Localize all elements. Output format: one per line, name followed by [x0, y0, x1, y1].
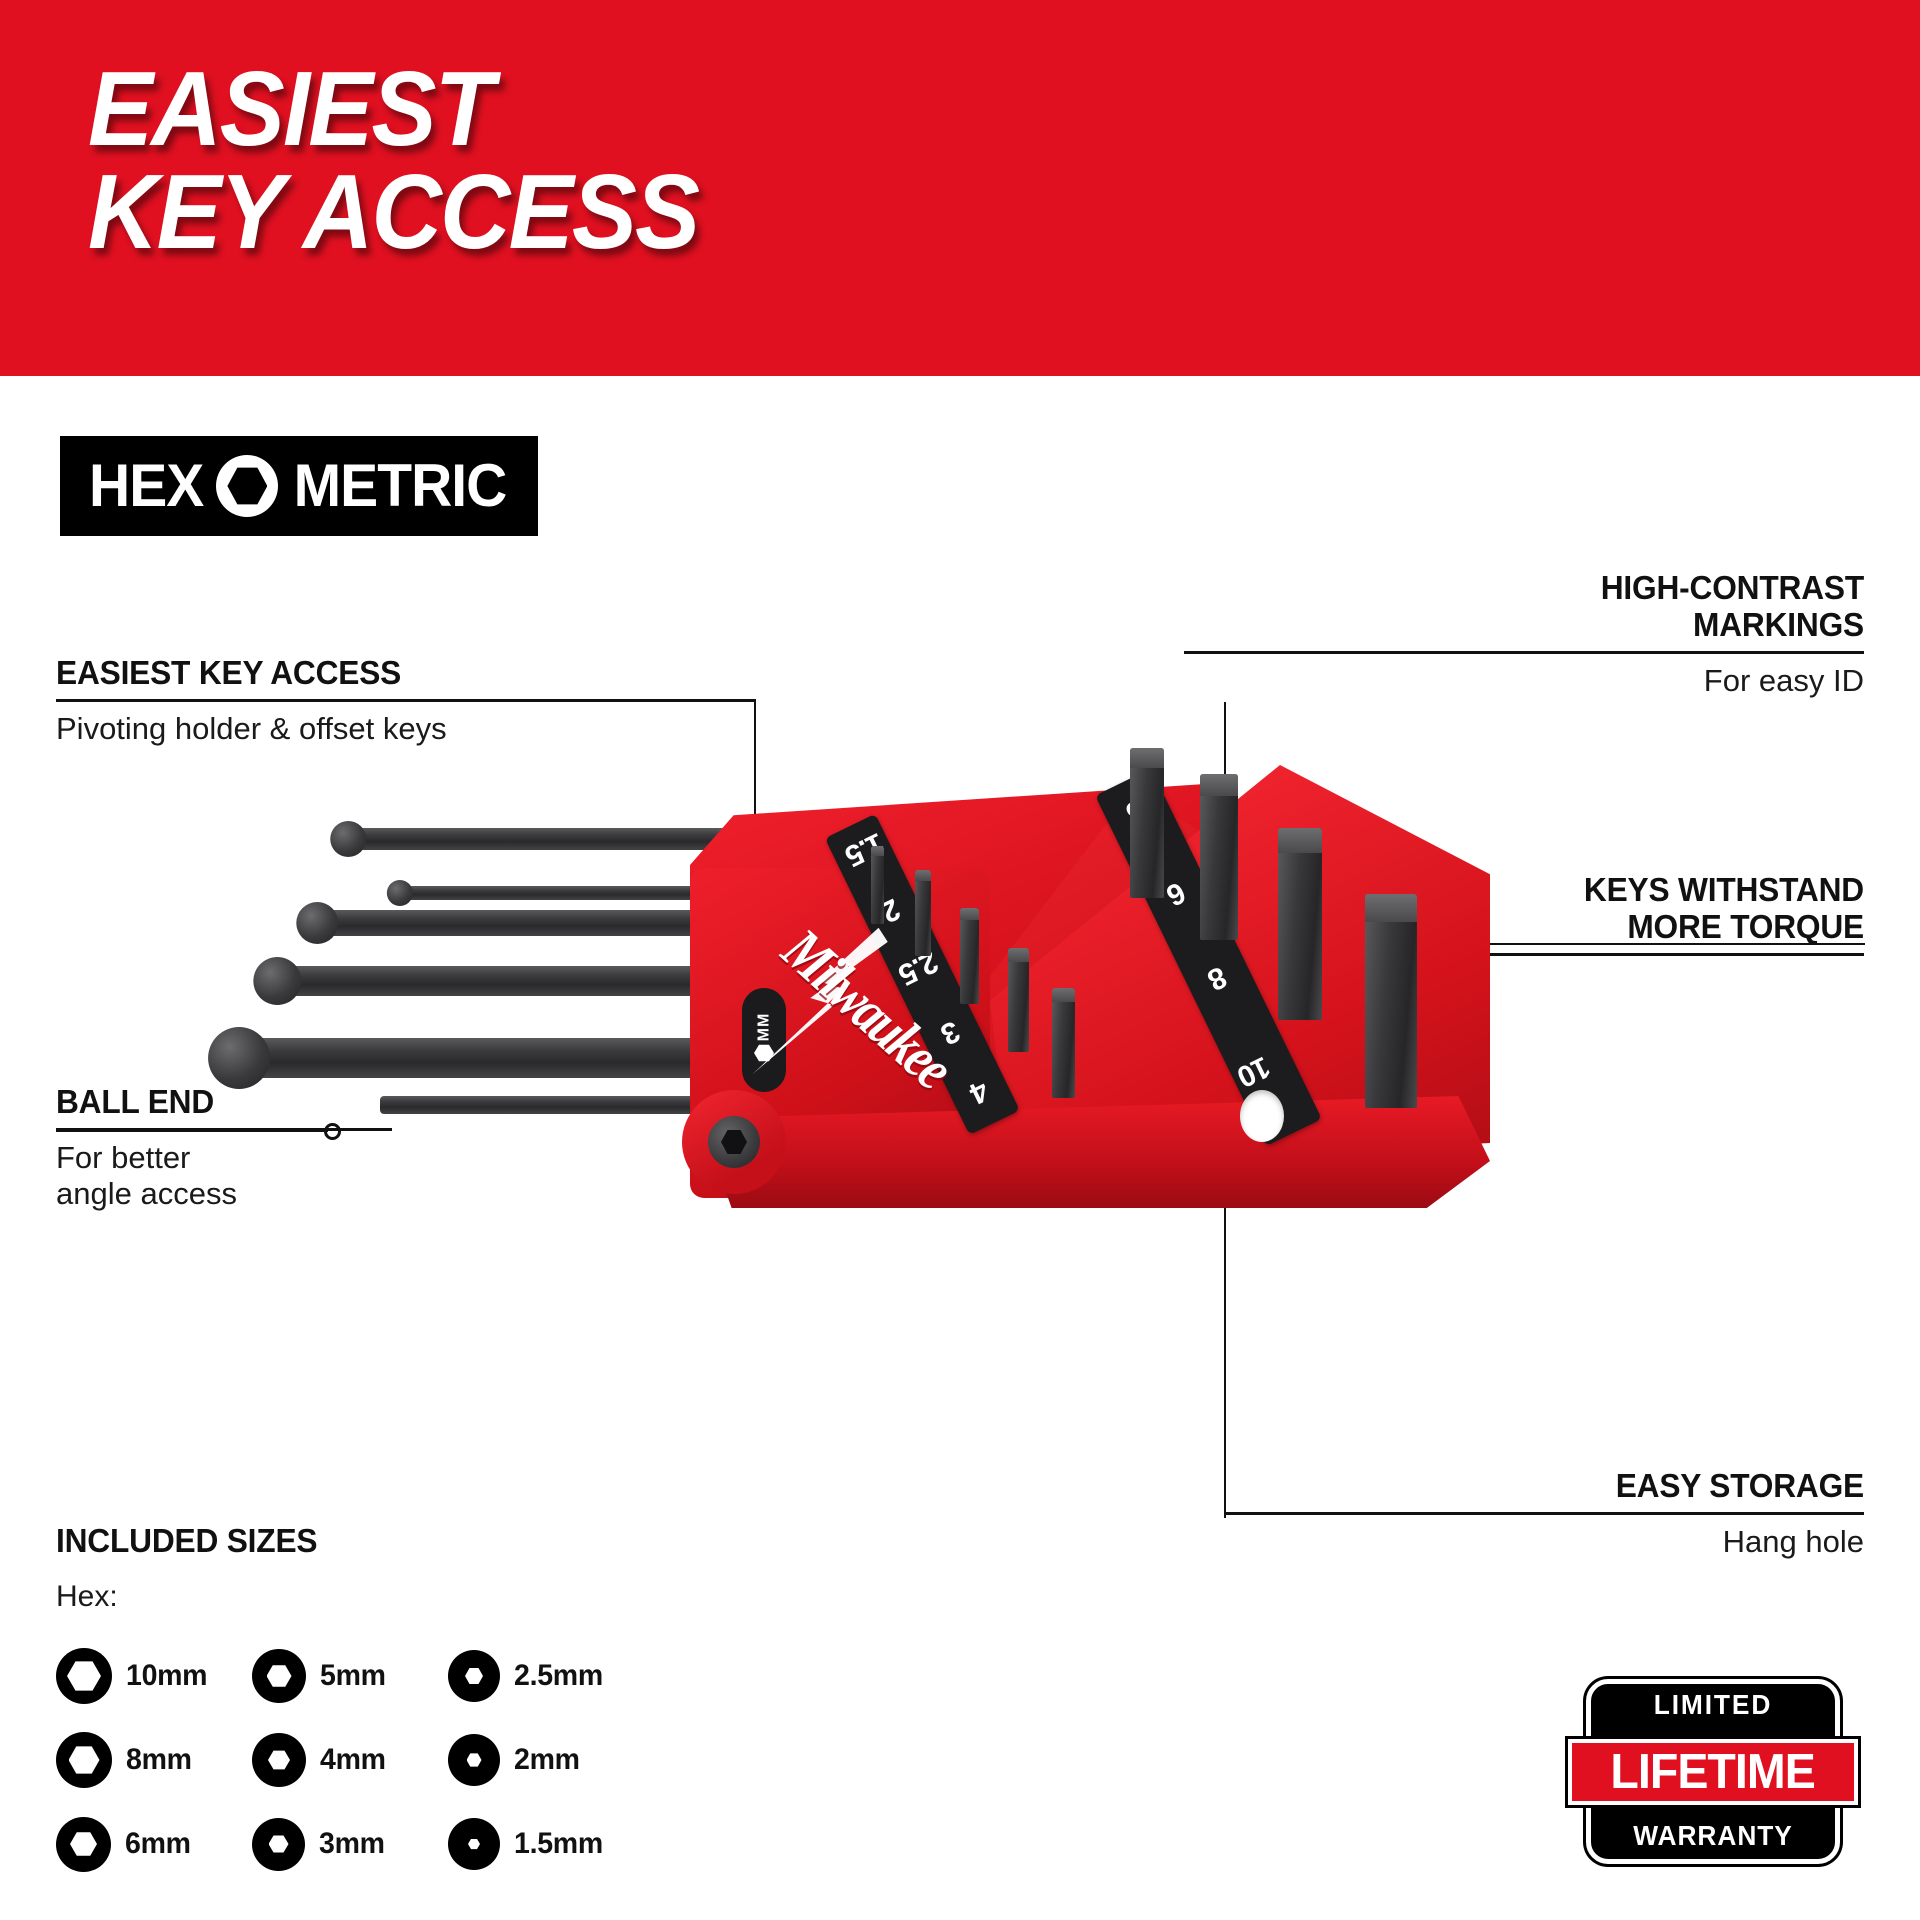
callout-subtitle: Pivoting holder & offset keys — [56, 711, 756, 747]
warranty-lifetime-label: LIFETIME — [1611, 1748, 1815, 1797]
callout-rule — [1224, 1512, 1864, 1515]
size-label: 3mm — [319, 1827, 385, 1861]
callout-rule — [1184, 651, 1864, 654]
badge-label-hex: HEX — [89, 456, 203, 516]
included-sizes-type-label: Hex: — [56, 1580, 716, 1614]
ball-end-icon — [296, 902, 338, 944]
hex-socket-icon — [56, 1648, 112, 1704]
callout-rule — [56, 699, 756, 702]
size-item: 2mm — [448, 1734, 678, 1786]
size-item: 5mm — [252, 1649, 448, 1703]
rail-marking: 6 — [1161, 874, 1190, 911]
size-label: 6mm — [125, 1827, 191, 1861]
hex-socket-icon — [252, 1649, 306, 1703]
size-label: 2mm — [514, 1743, 580, 1777]
size-label: 1.5mm — [514, 1827, 603, 1861]
warranty-badge: LIMITED LIFETIME WARRANTY — [1568, 1679, 1858, 1864]
ball-end-icon — [330, 821, 366, 857]
warranty-lifetime-band: LIFETIME — [1568, 1739, 1858, 1805]
callout-title: EASIEST KEY ACCESS — [56, 655, 728, 692]
standing-hex-key — [1365, 894, 1417, 1108]
callout-easiest-key-access: EASIEST KEY ACCESS Pivoting holder & off… — [56, 655, 756, 747]
size-item: 6mm — [56, 1817, 252, 1872]
callout-easy-storage: EASY STORAGE Hang hole — [1224, 1468, 1864, 1560]
hex-socket-icon — [56, 1732, 112, 1788]
included-sizes-section: INCLUDED SIZES Hex: 10mm5mm2.5mm8mm4mm2m… — [56, 1522, 716, 1886]
hex-metric-badge: HEX METRIC — [60, 436, 538, 536]
size-grid: 10mm5mm2.5mm8mm4mm2mm6mm3mm1.5mm — [56, 1634, 716, 1886]
rail-marking: 8 — [1203, 959, 1232, 996]
pivot-bolt-icon — [708, 1116, 760, 1168]
included-sizes-title: INCLUDED SIZES — [56, 1522, 690, 1560]
callout-subtitle: Hang hole — [1224, 1524, 1864, 1560]
size-label: 5mm — [320, 1659, 386, 1693]
size-item: 1.5mm — [448, 1818, 678, 1870]
standing-hex-key — [1130, 748, 1164, 898]
hex-socket-icon — [252, 1733, 306, 1787]
ball-end-icon — [208, 1027, 270, 1089]
page-title: EASIEST KEY ACCESS — [88, 58, 1284, 264]
size-label: 2.5mm — [514, 1659, 603, 1693]
size-item: 3mm — [252, 1818, 448, 1871]
hex-socket-icon — [448, 1650, 500, 1702]
callout-subtitle: For easy ID — [1184, 663, 1864, 699]
callout-title: EASY STORAGE — [1250, 1468, 1864, 1505]
rail-marking: 10 — [1232, 1049, 1275, 1093]
warranty-limited-label: LIMITED — [1594, 1689, 1833, 1721]
size-label: 8mm — [126, 1743, 192, 1777]
warranty-warranty-label: WARRANTY — [1594, 1820, 1833, 1852]
ball-end-icon — [387, 880, 413, 906]
size-item: 10mm — [56, 1648, 252, 1704]
size-item: 8mm — [56, 1732, 252, 1788]
product-image-hex-key-set: 1.5 2 2.5 3 4 5 6 8 10 MM Milwaukee — [230, 760, 1520, 1400]
hex-socket-icon — [448, 1734, 500, 1786]
hang-hole — [1240, 1090, 1284, 1142]
standing-hex-key — [1200, 774, 1238, 940]
header-banner: EASIEST KEY ACCESS — [0, 0, 1920, 376]
standing-hex-key — [1278, 828, 1322, 1020]
badge-label-metric: METRIC — [294, 456, 507, 516]
size-item: 2.5mm — [448, 1650, 678, 1702]
size-item: 4mm — [252, 1733, 448, 1787]
hex-socket-icon — [252, 1818, 305, 1871]
size-label: 4mm — [320, 1743, 386, 1777]
hex-socket-icon — [448, 1818, 500, 1870]
callout-high-contrast-markings: HIGH-CONTRAST MARKINGS For easy ID — [1184, 570, 1864, 699]
standing-hex-key — [1052, 988, 1075, 1098]
callout-title: HIGH-CONTRAST MARKINGS — [1211, 570, 1864, 644]
hex-socket-icon — [56, 1817, 111, 1872]
hex-socket-icon — [216, 455, 278, 517]
ball-end-icon — [253, 957, 301, 1005]
size-label: 10mm — [126, 1659, 207, 1693]
